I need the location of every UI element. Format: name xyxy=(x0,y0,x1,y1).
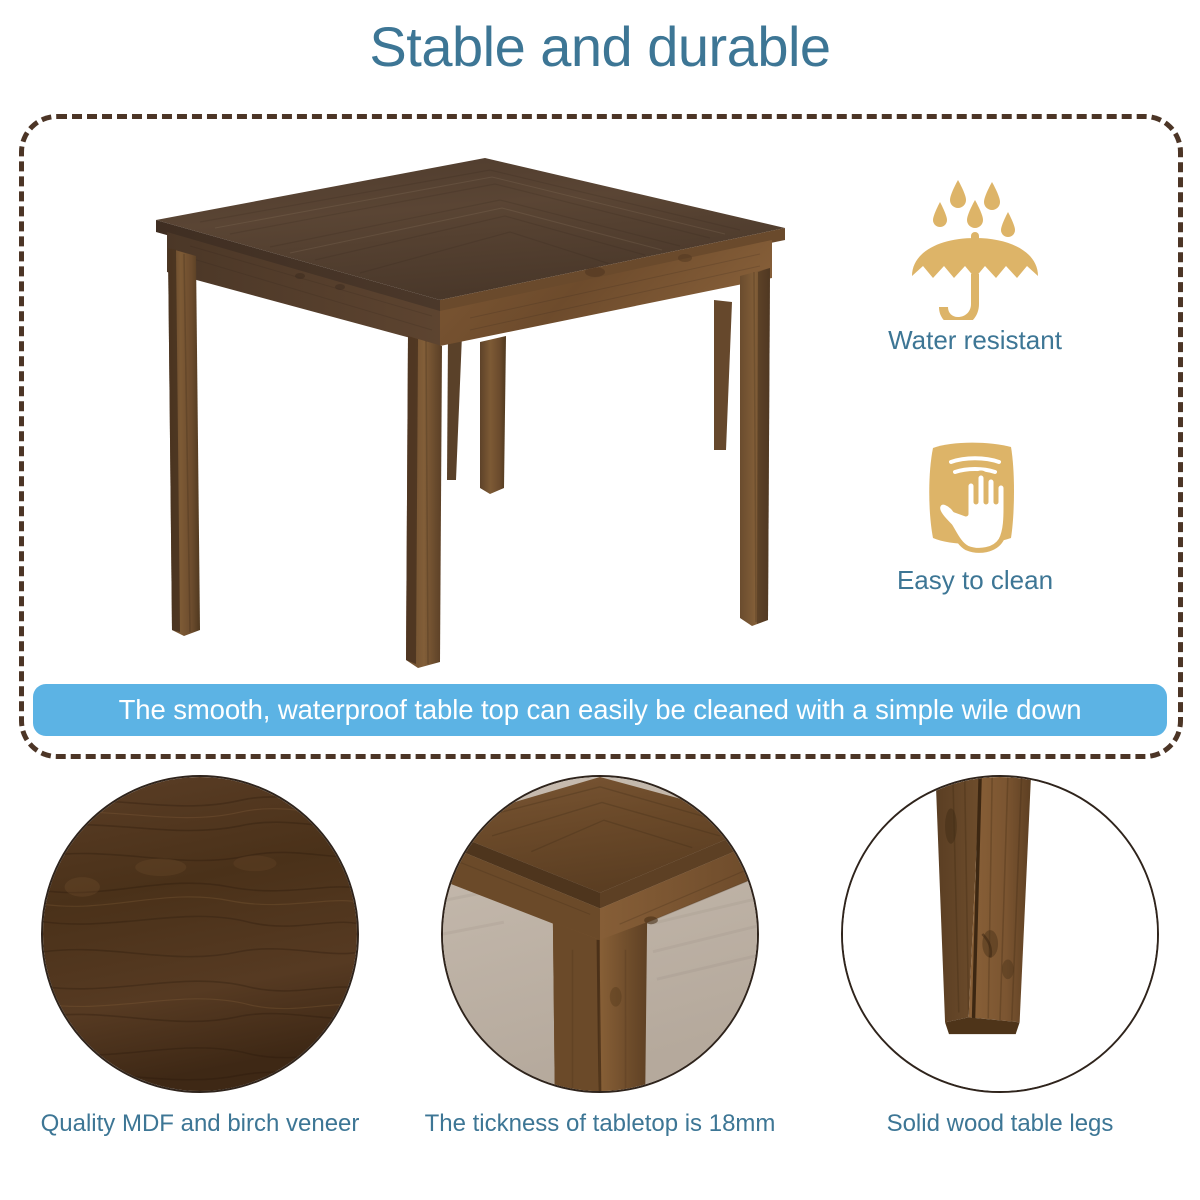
banner-text: The smooth, waterproof table top can eas… xyxy=(119,696,1082,724)
feature-label: Easy to clean xyxy=(845,566,1105,595)
detail-item-leg: Solid wood table legs xyxy=(800,775,1200,1175)
detail-caption: The tickness of tabletop is 18mm xyxy=(400,1110,800,1139)
infographic-page: Stable and durable xyxy=(0,0,1200,1200)
table-corner-edge-closeup xyxy=(441,775,759,1093)
umbrella-raindrops-icon xyxy=(845,170,1105,320)
highlight-banner: The smooth, waterproof table top can eas… xyxy=(33,684,1167,736)
feature-easy-to-clean: Easy to clean xyxy=(845,432,1105,595)
detail-item-tabletop: Quality MDF and birch veneer xyxy=(0,775,400,1175)
detail-caption: Solid wood table legs xyxy=(800,1110,1200,1139)
detail-gallery: Quality MDF and birch veneer xyxy=(0,775,1200,1175)
detail-caption: Quality MDF and birch veneer xyxy=(0,1110,400,1139)
hand-wiping-cloth-icon xyxy=(845,432,1105,560)
product-table-image xyxy=(140,150,800,670)
tabletop-wood-grain-closeup xyxy=(41,775,359,1093)
feature-list: Water resistant Easy to clean xyxy=(845,170,1105,640)
detail-item-edge: The tickness of tabletop is 18mm xyxy=(400,775,800,1175)
feature-label: Water resistant xyxy=(845,326,1105,355)
table-leg-closeup xyxy=(841,775,1159,1093)
page-title: Stable and durable xyxy=(0,18,1200,77)
feature-water-resistant: Water resistant xyxy=(845,170,1105,355)
